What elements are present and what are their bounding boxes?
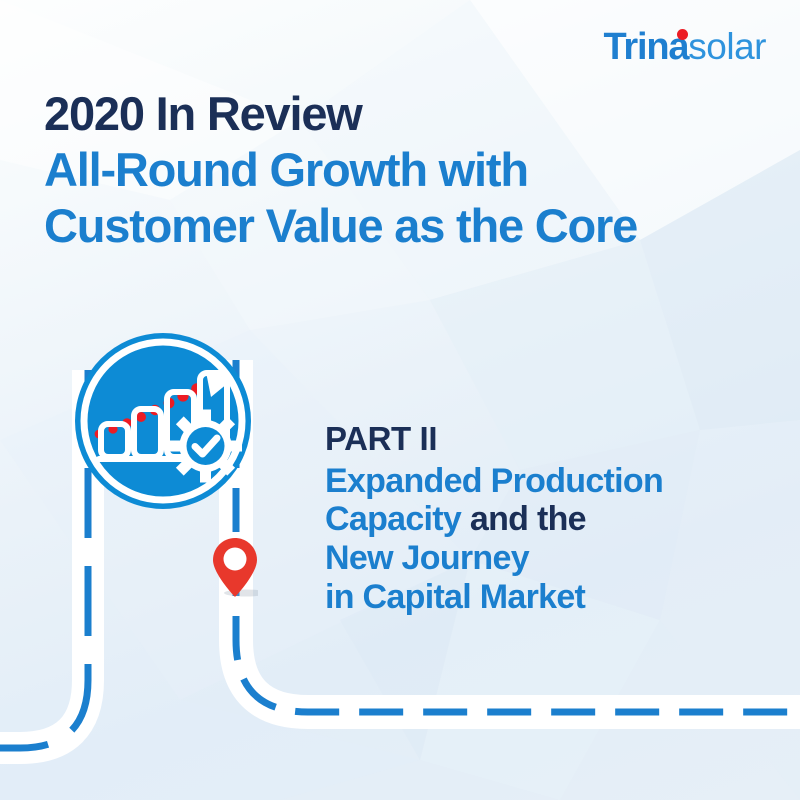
location-pin-marker <box>212 537 258 599</box>
logo-text-solar: solar <box>688 26 766 67</box>
page-title: 2020 In Review All-Round Growth with Cus… <box>44 90 637 250</box>
headline-line-1: 2020 In Review <box>44 90 637 138</box>
part-label: PART II <box>325 420 663 458</box>
pin-hole <box>224 548 247 571</box>
part-line-3: New Journey <box>325 539 529 577</box>
part-line-2-navy: and the <box>461 500 586 538</box>
headline-line-2: All-Round Growth with <box>44 146 637 194</box>
infographic-canvas: Trinasolar 2020 In Review All-Round Grow… <box>0 0 800 800</box>
part-section: PART II Expanded Production Capacity and… <box>325 420 663 617</box>
headline-line-3: Customer Value as the Core <box>44 202 637 250</box>
growth-quality-badge <box>72 330 254 512</box>
part-line-1: Expanded Production <box>325 462 663 500</box>
logo-text-trina: Trina <box>603 26 688 68</box>
part-line-4: in Capital Market <box>325 578 585 616</box>
part-line-2-blue: Capacity <box>325 500 461 538</box>
gear-check-icon <box>169 410 242 483</box>
pin-shadow <box>224 590 258 597</box>
trina-solar-logo: Trinasolar <box>603 28 766 66</box>
